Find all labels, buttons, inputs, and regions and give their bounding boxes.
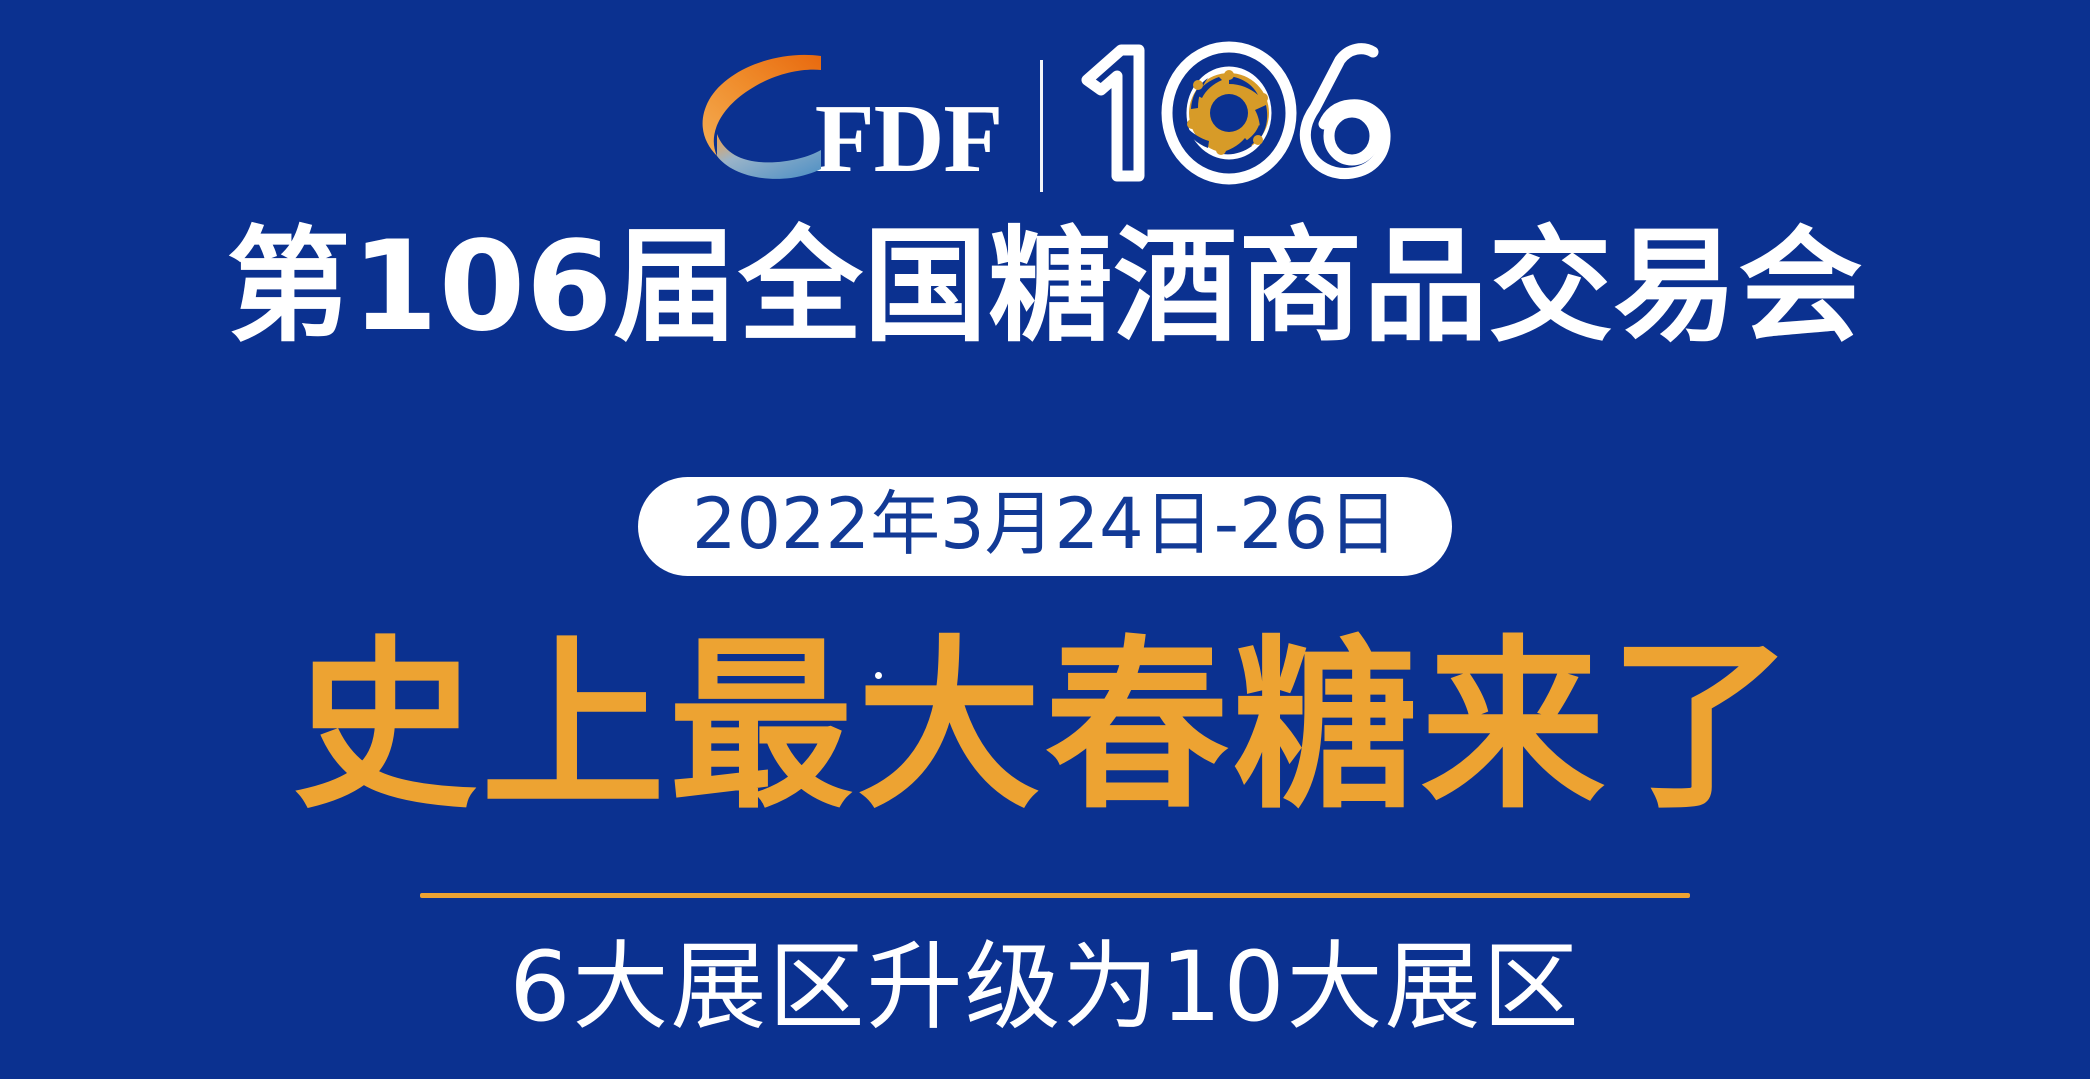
decorative-speck <box>875 672 882 679</box>
logo-band: FDF <box>0 26 2090 196</box>
logo-divider <box>1040 60 1043 192</box>
fdf-wordmark: FDF <box>815 94 1003 186</box>
date-badge-row: 2022年3月24日-26日 <box>0 477 2090 576</box>
gold-headline: 史上最大春糖来了 <box>0 630 2090 825</box>
event-date-badge: 2022年3月24日-26日 <box>638 477 1452 576</box>
fdf-lockup: FDF <box>683 36 1003 186</box>
edition-106-logo <box>1077 36 1407 186</box>
subline-text: 6大展区升级为10大展区 <box>0 930 2090 1045</box>
page-title: 第106届全国糖酒商品交易会 <box>0 222 2090 353</box>
c-swoosh-icon <box>683 38 833 186</box>
poster-canvas: FDF <box>0 0 2090 1079</box>
gold-divider-rule <box>420 893 1690 898</box>
